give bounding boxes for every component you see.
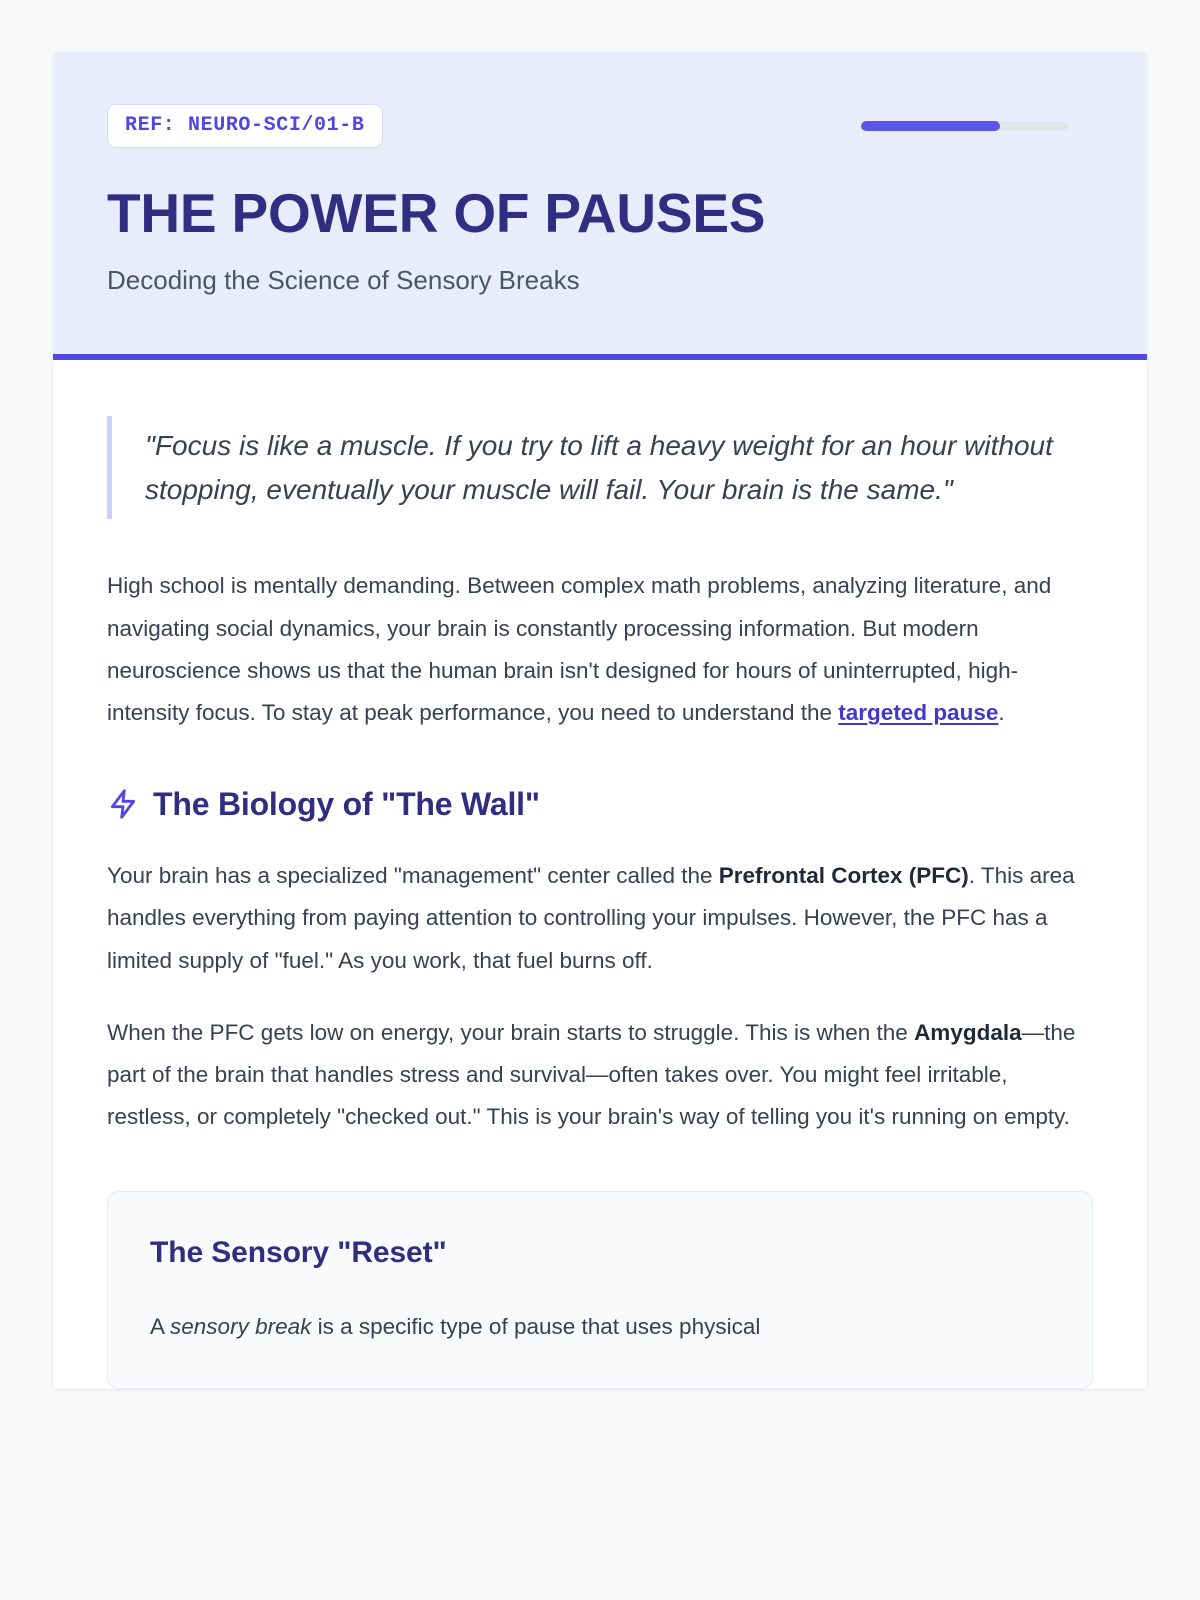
pull-quote-text: "Focus is like a muscle. If you try to l… (145, 424, 1093, 511)
document-header: REF: NEURO-SCI/01-B THE POWER OF PAUSES … (53, 52, 1147, 354)
section-title-biology: The Biology of "The Wall" (153, 785, 540, 823)
callout-title: The Sensory "Reset" (150, 1236, 1050, 1270)
biology-paragraph-1: Your brain has a specialized "management… (107, 855, 1093, 982)
targeted-pause-link[interactable]: targeted pause (838, 700, 998, 725)
reference-badge: REF: NEURO-SCI/01-B (107, 104, 383, 148)
biology-p2-part1: When the PFC gets low on energy, your br… (107, 1020, 914, 1045)
page-title: THE POWER OF PAUSES (107, 185, 1093, 242)
section-heading-biology: The Biology of "The Wall" (107, 785, 1093, 823)
amygdala-term: Amygdala (914, 1020, 1022, 1045)
intro-text-part2: . (998, 700, 1004, 725)
reading-progress-bar[interactable] (861, 121, 1069, 131)
document-page: REF: NEURO-SCI/01-B THE POWER OF PAUSES … (0, 0, 1200, 1600)
callout-part1: A (150, 1314, 170, 1339)
prefrontal-cortex-term: Prefrontal Cortex (PFC) (719, 863, 969, 888)
pull-quote: "Focus is like a muscle. If you try to l… (107, 416, 1093, 519)
header-top-row: REF: NEURO-SCI/01-B (107, 104, 1093, 148)
callout-part2: is a specific type of pause that uses ph… (311, 1314, 760, 1339)
biology-paragraph-2: When the PFC gets low on energy, your br… (107, 1012, 1093, 1139)
sensory-break-term: sensory break (170, 1314, 311, 1339)
callout-paragraph: A sensory break is a specific type of pa… (150, 1306, 1050, 1348)
intro-paragraph: High school is mentally demanding. Betwe… (107, 565, 1093, 734)
reading-progress-fill (861, 121, 1000, 131)
biology-p1-part1: Your brain has a specialized "management… (107, 863, 719, 888)
page-subtitle: Decoding the Science of Sensory Breaks (107, 264, 1093, 297)
sensory-reset-callout: The Sensory "Reset" A sensory break is a… (107, 1191, 1093, 1389)
zap-icon (107, 788, 139, 820)
article-card: REF: NEURO-SCI/01-B THE POWER OF PAUSES … (53, 52, 1147, 1389)
document-body: "Focus is like a muscle. If you try to l… (53, 360, 1147, 1389)
